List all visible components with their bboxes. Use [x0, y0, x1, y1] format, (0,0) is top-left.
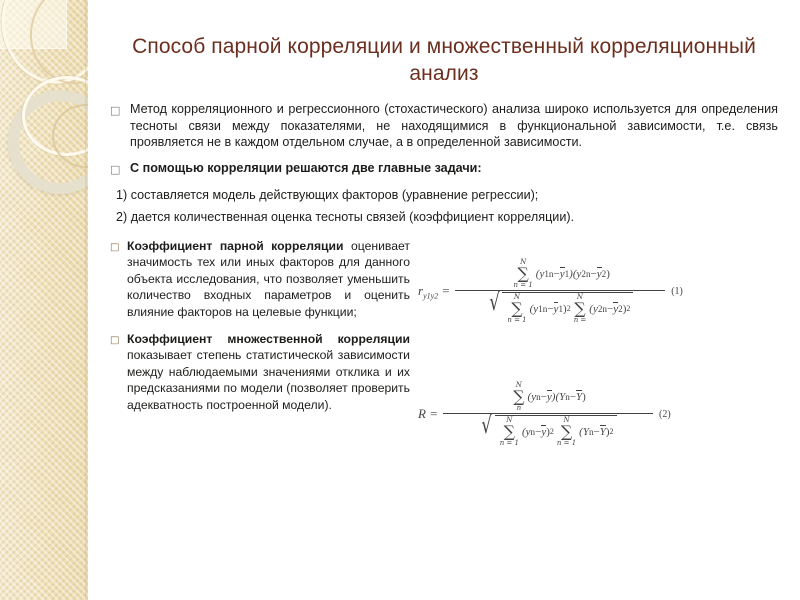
summation-icon: N ∑ n =	[574, 294, 587, 324]
formula-fraction: N ∑ n = 1 (y1n − y1 )(y2n − y2 )	[455, 258, 665, 325]
list-item: □ С помощью корреляции решаются две глав…	[110, 160, 778, 178]
list-item: □ Метод корреляционного и регрессионного…	[110, 101, 778, 151]
list-item-label: Коэффициент множественной корреляции пок…	[127, 331, 410, 413]
decorative-side-band	[0, 0, 88, 600]
summation-icon: N ∑ n	[513, 382, 524, 412]
formula-denominator: √ N ∑ n = 1 (yn −	[473, 414, 622, 448]
summation-icon: N ∑ n = 1	[514, 259, 533, 289]
page-title: Способ парной корреляции и множественный…	[88, 0, 800, 87]
formula-multiple-correlation: R = N ∑ n (yn − y )(	[418, 381, 786, 448]
slide-content: Способ парной корреляции и множественный…	[88, 0, 800, 600]
list-item-label: Коэффициент парной корреляции оценивает …	[127, 238, 410, 320]
list-item-lead: Коэффициент множественной корреляции	[127, 332, 410, 346]
lower-section: □ Коэффициент парной корреляции оценивае…	[88, 232, 800, 494]
sub-items-column: □ Коэффициент парной корреляции оценивае…	[110, 238, 418, 494]
formulas-column: ry1y2 = N ∑ n = 1 (y1n − y1	[418, 238, 786, 494]
formula-equals: =	[429, 406, 438, 421]
formula-number: (1)	[665, 286, 683, 297]
formula-number: (2)	[653, 409, 671, 420]
list-item-label: Метод корреляционного и регрессионного (…	[130, 101, 778, 151]
square-root-icon: √ N ∑ n = 1 (y1n −	[487, 292, 633, 324]
slide-canvas: Способ парной корреляции и множественный…	[0, 0, 800, 600]
numbered-item-1: 1) составляется модель действующих факто…	[116, 187, 778, 204]
formula-numerator: N ∑ n = 1 (y1n − y1 )(y2n − y2 )	[505, 258, 616, 290]
formula-lhs-symbol: R	[418, 406, 426, 421]
square-root-icon: √ N ∑ n = 1 (yn −	[479, 415, 616, 447]
numbered-item-2: 2) дается количественная оценка тесноты …	[116, 209, 778, 226]
formula-fraction: N ∑ n (yn − y )(Yn − Y )	[443, 381, 653, 448]
body-text-block: □ Метод корреляционного и регрессионного…	[88, 87, 800, 226]
formula-numerator: N ∑ n (yn − y )(Yn − Y )	[504, 381, 592, 413]
formula-pair-correlation: ry1y2 = N ∑ n = 1 (y1n − y1	[418, 258, 786, 325]
summation-icon: N ∑ n = 1	[500, 417, 519, 447]
formula-lhs-subscript: y1y2	[423, 291, 438, 300]
summation-icon: N ∑ n = 1	[507, 294, 526, 324]
formula-equals: =	[441, 283, 450, 298]
formula-lhs: ry1y2 =	[418, 283, 455, 301]
list-item: □ Коэффициент парной корреляции оценивае…	[110, 238, 410, 320]
list-item-label: С помощью корреляции решаются две главны…	[130, 160, 778, 177]
formula-lhs: R =	[418, 406, 443, 422]
square-bullet-icon: □	[110, 331, 127, 349]
list-item-lead: Коэффициент парной корреляции	[127, 239, 344, 253]
square-bullet-icon: □	[110, 160, 130, 178]
list-item-rest: показывает степень статистической зависи…	[127, 348, 410, 411]
summation-icon: N ∑ n = 1	[557, 417, 576, 447]
list-item: □ Коэффициент множественной корреляции п…	[110, 331, 410, 413]
square-bullet-icon: □	[110, 238, 127, 256]
formula-denominator: √ N ∑ n = 1 (y1n −	[481, 291, 639, 325]
square-bullet-icon: □	[110, 101, 130, 119]
